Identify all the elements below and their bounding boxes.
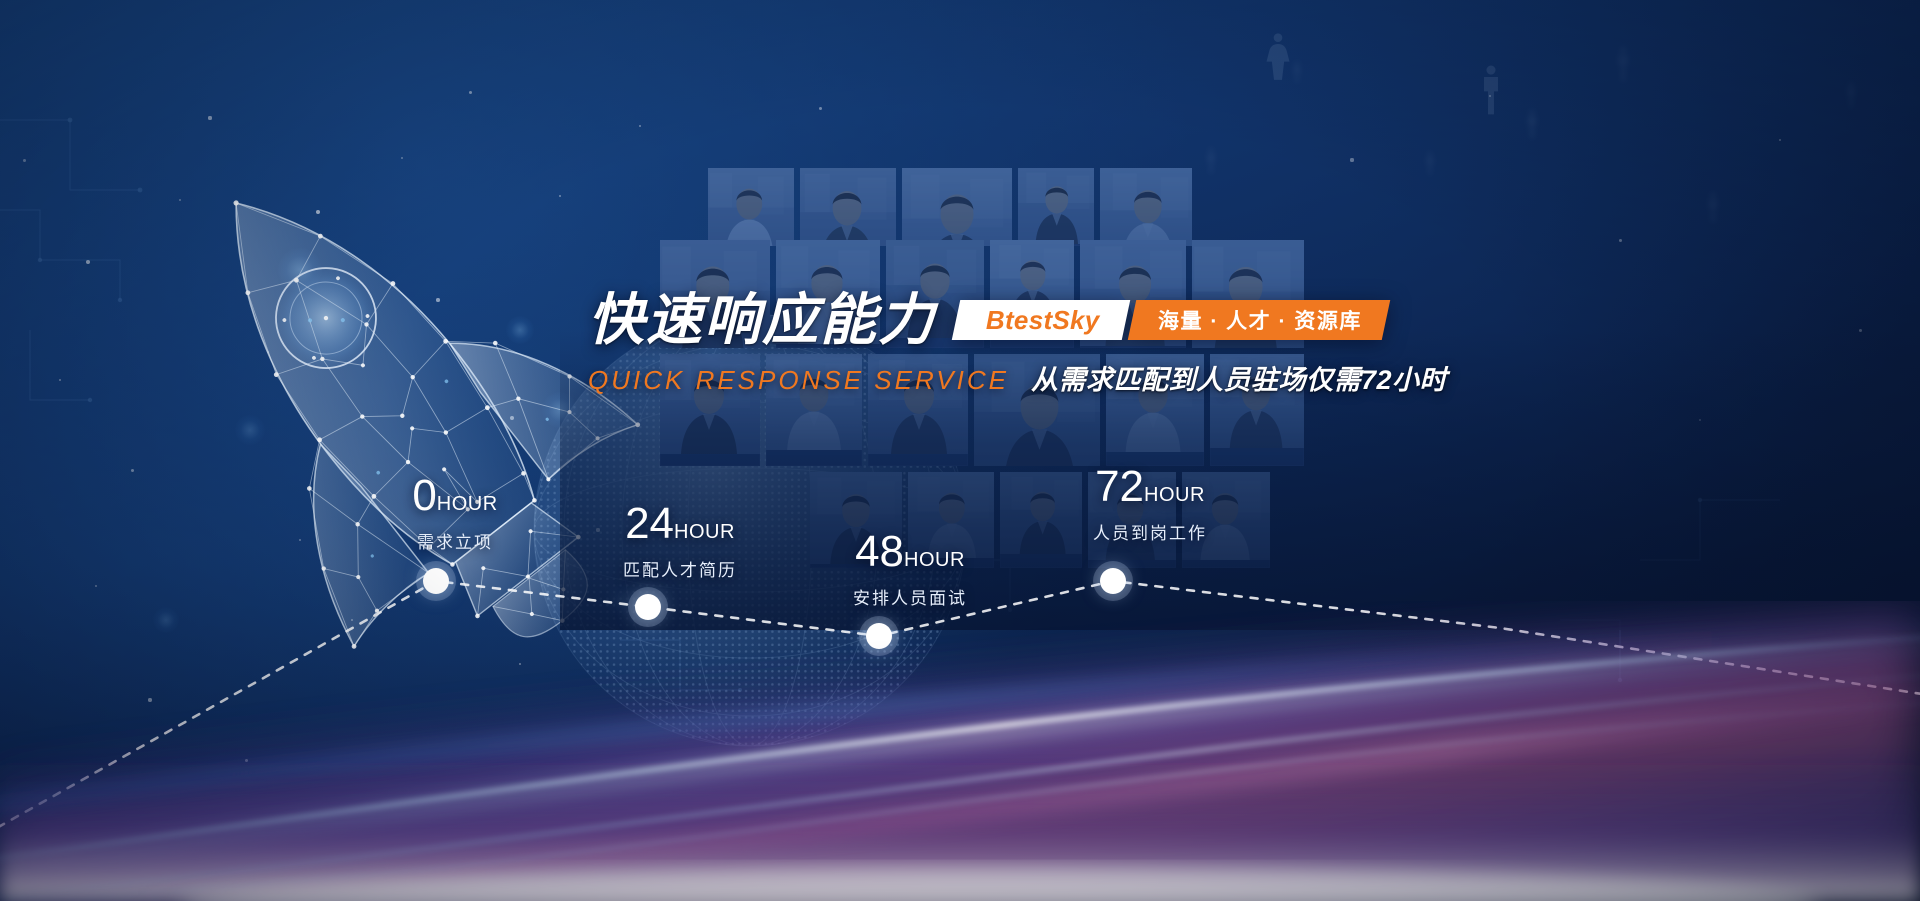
vignette-overlay xyxy=(0,0,1920,901)
timeline-milestone: 72HOUR人员到岗工作 xyxy=(1093,465,1207,544)
star-dot xyxy=(1699,419,1702,422)
star-dot xyxy=(559,195,562,198)
milestone-label: 需求立项 xyxy=(412,528,497,553)
tile-veil xyxy=(1100,168,1192,246)
star-dot xyxy=(639,125,642,128)
headshot-placeholder xyxy=(1088,472,1176,560)
star-dot xyxy=(436,298,440,302)
star-dot xyxy=(1779,139,1782,142)
photo-tile xyxy=(1000,472,1082,568)
tile-veil xyxy=(810,472,902,568)
milestone-label: 人员到岗工作 xyxy=(1093,519,1207,544)
tile-blue-tint xyxy=(1182,472,1270,568)
brand-tagline-text: 海量 · 人才 · 资源库 xyxy=(1158,305,1362,335)
milestone-time: 24HOUR xyxy=(623,502,737,546)
rocket-wireframe-icon xyxy=(130,120,650,680)
tile-blue-tint xyxy=(708,168,794,246)
star-dot xyxy=(95,585,98,588)
title-row: 快速响应能力 BtestSky 海量 · 人才 · 资源库 xyxy=(588,290,1768,350)
tile-veil xyxy=(1018,168,1094,246)
star-dot xyxy=(316,210,320,214)
tile-blue-tint xyxy=(902,168,1012,246)
glow-dot xyxy=(278,248,322,292)
photo-tile xyxy=(800,168,896,246)
brand-name-text: BtestSky xyxy=(986,305,1100,336)
person-blur-pictogram-icon xyxy=(1420,150,1440,177)
glow-dot xyxy=(506,316,534,344)
headshot-placeholder xyxy=(1182,472,1270,560)
star-dot xyxy=(148,698,151,701)
headshot-placeholder xyxy=(1018,168,1094,244)
photo-tile xyxy=(902,168,1012,246)
person-blur-pictogram-icon xyxy=(1520,108,1544,140)
headshot-placeholder xyxy=(1100,168,1192,246)
star-dot xyxy=(131,469,134,472)
tile-blue-tint xyxy=(1018,168,1094,246)
timeline-node-icon[interactable] xyxy=(423,568,449,594)
star-dot xyxy=(299,539,301,541)
star-dot xyxy=(469,91,472,94)
photo-tile xyxy=(810,472,902,568)
person-blur-pictogram-icon xyxy=(1288,60,1306,84)
subtitle-chinese: 从需求匹配到人员驻场仅需72小时 xyxy=(1031,358,1447,397)
star-dot xyxy=(23,159,26,162)
tile-blue-tint xyxy=(908,472,994,568)
star-dot xyxy=(819,107,822,110)
star-dot xyxy=(208,116,211,119)
photo-tile xyxy=(1100,168,1192,246)
brand-badge: BtestSky 海量 · 人才 · 资源库 xyxy=(956,300,1386,340)
headshot-placeholder xyxy=(800,168,896,246)
glow-dot xyxy=(235,415,265,445)
photo-tile xyxy=(1182,472,1270,568)
tile-veil xyxy=(708,168,794,246)
milestone-number: 72 xyxy=(1095,462,1144,511)
timeline-milestone: 0HOUR需求立项 xyxy=(412,474,497,553)
star-dot xyxy=(519,663,522,666)
milestone-number: 0 xyxy=(412,471,436,520)
person-blur-pictogram-icon xyxy=(1840,80,1862,109)
star-dot xyxy=(245,759,248,762)
milestone-label: 匹配人才简历 xyxy=(623,556,737,581)
timeline-milestone: 48HOUR安排人员面试 xyxy=(853,530,967,609)
circuit-trace-decoration xyxy=(0,0,1920,901)
milestone-time: 0HOUR xyxy=(412,474,497,518)
star-dot xyxy=(1859,329,1862,332)
timeline-node-icon[interactable] xyxy=(635,594,661,620)
photo-tile xyxy=(1018,168,1094,246)
tile-blue-tint xyxy=(800,168,896,246)
headshot-placeholder xyxy=(1000,472,1082,554)
person-blur-pictogram-icon xyxy=(1700,190,1726,225)
tile-blue-tint xyxy=(1000,472,1082,568)
star-dot xyxy=(596,528,599,531)
headshot-placeholder xyxy=(708,168,794,246)
tile-blue-tint xyxy=(1088,472,1176,568)
person-blur-pictogram-icon xyxy=(1200,146,1222,175)
glow-dot xyxy=(542,392,578,428)
tile-veil xyxy=(1182,472,1270,568)
star-dot xyxy=(740,176,744,180)
milestone-label: 安排人员面试 xyxy=(853,584,967,609)
tile-blue-tint xyxy=(810,472,902,568)
brand-tagline-badge: 海量 · 人才 · 资源库 xyxy=(1127,300,1389,340)
person-female-pictogram-icon xyxy=(1258,30,1298,83)
person-male-pictogram-icon xyxy=(1470,62,1512,118)
star-dot xyxy=(510,416,514,420)
star-dot xyxy=(401,157,403,159)
tile-veil xyxy=(1088,472,1176,568)
milestone-unit: HOUR xyxy=(437,493,498,515)
headshot-placeholder xyxy=(902,168,1012,246)
milestone-number: 48 xyxy=(855,527,904,576)
timeline-node-icon[interactable] xyxy=(1100,568,1126,594)
photo-tile xyxy=(908,472,994,568)
milestone-number: 24 xyxy=(625,499,674,548)
timeline-node-icon[interactable] xyxy=(866,623,892,649)
person-blur-pictogram-icon xyxy=(1608,44,1638,84)
headshot-placeholder xyxy=(908,472,994,558)
glow-dot xyxy=(153,607,179,633)
star-dot xyxy=(1489,95,1492,98)
star-dot xyxy=(267,351,270,354)
headshot-placeholder xyxy=(810,472,902,564)
tile-veil xyxy=(1000,472,1082,568)
photo-tile xyxy=(708,168,794,246)
subtitle-row: QUICK RESPONSE SERVICE 从需求匹配到人员驻场仅需72小时 xyxy=(588,358,1768,397)
glow-dot xyxy=(604,584,636,616)
milestone-time: 72HOUR xyxy=(1093,465,1207,509)
aurora-light-streaks xyxy=(0,601,1920,901)
star-dot xyxy=(351,619,354,622)
milestone-unit: HOUR xyxy=(904,549,965,571)
headline-block: 快速响应能力 BtestSky 海量 · 人才 · 资源库 QUICK RESP… xyxy=(588,290,1768,397)
hero-banner: 快速响应能力 BtestSky 海量 · 人才 · 资源库 QUICK RESP… xyxy=(0,0,1920,901)
glow-dot xyxy=(408,488,432,512)
process-timeline: 0HOUR需求立项24HOUR匹配人才简历48HOUR安排人员面试72HOUR人… xyxy=(0,0,1920,901)
tile-veil xyxy=(902,168,1012,246)
milestone-time: 48HOUR xyxy=(853,530,967,574)
star-dot xyxy=(1350,158,1353,161)
timeline-milestone: 24HOUR匹配人才简历 xyxy=(623,502,737,581)
brand-name-badge: BtestSky xyxy=(952,300,1130,340)
star-dot xyxy=(1619,239,1622,242)
star-dot xyxy=(59,379,62,382)
milestone-unit: HOUR xyxy=(1144,484,1205,506)
star-dot xyxy=(86,260,90,264)
tile-blue-tint xyxy=(1100,168,1192,246)
milestone-unit: HOUR xyxy=(674,521,735,543)
subtitle-english: QUICK RESPONSE SERVICE xyxy=(588,365,1009,396)
timeline-dashed-path xyxy=(0,0,1920,901)
star-dot xyxy=(179,199,182,202)
tile-veil xyxy=(908,472,994,568)
photo-tile xyxy=(1088,472,1176,568)
page-title: 快速响应能力 xyxy=(588,292,936,348)
tile-veil xyxy=(800,168,896,246)
